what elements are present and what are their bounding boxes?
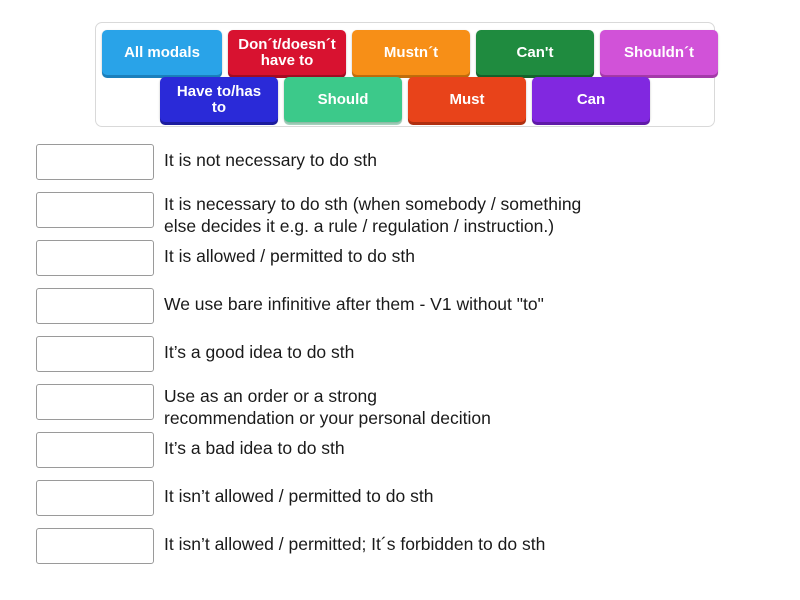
definition-row: It’s a bad idea to do sth: [36, 432, 766, 480]
answer-dropzone-4[interactable]: [36, 288, 154, 324]
tile-mustn-t[interactable]: Mustn´t: [352, 30, 470, 75]
definition-text: It’s a bad idea to do sth: [164, 432, 345, 459]
definition-text: It isn’t allowed / permitted to do sth: [164, 480, 433, 507]
definition-text: We use bare infinitive after them - V1 w…: [164, 288, 544, 315]
answer-dropzone-1[interactable]: [36, 144, 154, 180]
answer-dropzone-6[interactable]: [36, 384, 154, 420]
definition-text: It is necessary to do sth (when somebody…: [164, 192, 581, 238]
definition-list: It is not necessary to do sthIt is neces…: [36, 144, 766, 576]
definition-row: It isn’t allowed / permitted; It´s forbi…: [36, 528, 766, 576]
tile-don-t-doesn-t-have-to[interactable]: Don´t/doesn´t have to: [228, 30, 346, 75]
definition-row: It is not necessary to do sth: [36, 144, 766, 192]
tile-have-to-has-to[interactable]: Have to/has to: [160, 77, 278, 122]
tile-bank-row-2: Have to/has toShouldMustCan: [102, 77, 708, 122]
tile-should[interactable]: Should: [284, 77, 402, 122]
answer-dropzone-3[interactable]: [36, 240, 154, 276]
answer-dropzone-8[interactable]: [36, 480, 154, 516]
answer-dropzone-2[interactable]: [36, 192, 154, 228]
definition-row: It is allowed / permitted to do sth: [36, 240, 766, 288]
definition-row: It is necessary to do sth (when somebody…: [36, 192, 766, 240]
definition-row: It isn’t allowed / permitted to do sth: [36, 480, 766, 528]
definition-text: It isn’t allowed / permitted; It´s forbi…: [164, 528, 545, 555]
tile-bank: All modalsDon´t/doesn´t have toMustn´tCa…: [95, 22, 715, 127]
answer-dropzone-5[interactable]: [36, 336, 154, 372]
answer-dropzone-9[interactable]: [36, 528, 154, 564]
tile-all-modals[interactable]: All modals: [102, 30, 222, 75]
definition-row: It’s a good idea to do sth: [36, 336, 766, 384]
answer-dropzone-7[interactable]: [36, 432, 154, 468]
definition-text: It is allowed / permitted to do sth: [164, 240, 415, 267]
tile-bank-row-1: All modalsDon´t/doesn´t have toMustn´tCa…: [102, 30, 708, 75]
tile-must[interactable]: Must: [408, 77, 526, 122]
definition-text: It is not necessary to do sth: [164, 144, 377, 171]
tile-can[interactable]: Can: [532, 77, 650, 122]
tile-shouldn-t[interactable]: Shouldn´t: [600, 30, 718, 75]
definition-row: Use as an order or a strong recommendati…: [36, 384, 766, 432]
definition-text: Use as an order or a strong recommendati…: [164, 384, 491, 430]
definition-row: We use bare infinitive after them - V1 w…: [36, 288, 766, 336]
tile-can-t[interactable]: Can't: [476, 30, 594, 75]
definition-text: It’s a good idea to do sth: [164, 336, 354, 363]
